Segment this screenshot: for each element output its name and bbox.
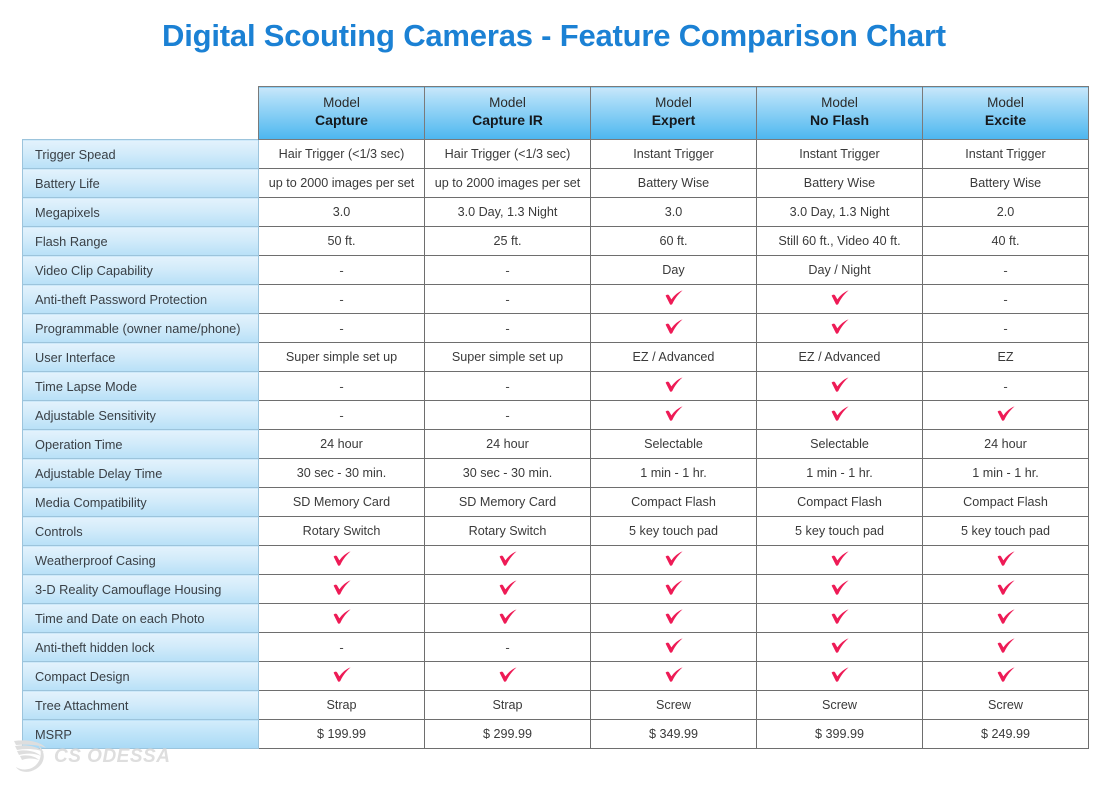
feature-value-cell: 1 min - 1 hr. xyxy=(923,459,1089,488)
feature-value-cell: up to 2000 images per set xyxy=(259,169,425,198)
dash-cell: - xyxy=(923,285,1089,314)
dash-mark: - xyxy=(1003,263,1007,278)
check-icon xyxy=(664,377,684,394)
feature-label: Tree Attachment xyxy=(23,691,259,720)
check-icon xyxy=(830,406,850,423)
feature-label: Adjustable Delay Time xyxy=(23,459,259,488)
check-icon xyxy=(498,580,518,597)
column-header-model-word: Model xyxy=(263,95,420,111)
feature-value-cell: EZ xyxy=(923,343,1089,372)
feature-label: Programmable (owner name/phone) xyxy=(23,314,259,343)
check-mark-cell xyxy=(757,662,923,691)
feature-value-cell: Screw xyxy=(757,691,923,720)
feature-label: Anti-theft hidden lock xyxy=(23,633,259,662)
feature-value-cell: Hair Trigger (<1/3 sec) xyxy=(425,140,591,169)
check-mark-cell xyxy=(259,604,425,633)
check-icon xyxy=(498,551,518,568)
feature-value-cell: Still 60 ft., Video 40 ft. xyxy=(757,227,923,256)
feature-label: Time Lapse Mode xyxy=(23,372,259,401)
dash-cell: - xyxy=(425,256,591,285)
table-row: Battery Lifeup to 2000 images per setup … xyxy=(23,169,1089,198)
check-mark-cell xyxy=(757,575,923,604)
table-row: Megapixels3.03.0 Day, 1.3 Night3.03.0 Da… xyxy=(23,198,1089,227)
check-icon xyxy=(664,551,684,568)
check-icon xyxy=(332,609,352,626)
check-mark-cell xyxy=(591,633,757,662)
check-icon xyxy=(830,551,850,568)
dash-mark: - xyxy=(1003,292,1007,307)
feature-label: Video Clip Capability xyxy=(23,256,259,285)
feature-value-cell: Instant Trigger xyxy=(591,140,757,169)
table-corner-cell xyxy=(23,87,259,140)
feature-value-cell: $ 199.99 xyxy=(259,720,425,749)
feature-value-cell: 5 key touch pad xyxy=(591,517,757,546)
feature-label: 3-D Reality Camouflage Housing xyxy=(23,575,259,604)
feature-label: Megapixels xyxy=(23,198,259,227)
feature-value-cell: Super simple set up xyxy=(259,343,425,372)
feature-value-cell: Screw xyxy=(591,691,757,720)
feature-label: Media Compatibility xyxy=(23,488,259,517)
feature-value-cell: Hair Trigger (<1/3 sec) xyxy=(259,140,425,169)
feature-value-cell: Screw xyxy=(923,691,1089,720)
dash-cell: - xyxy=(923,372,1089,401)
feature-value-cell: EZ / Advanced xyxy=(757,343,923,372)
dash-mark: - xyxy=(1003,321,1007,336)
feature-value-cell: Battery Wise xyxy=(757,169,923,198)
check-mark-cell xyxy=(923,662,1089,691)
dash-cell: - xyxy=(425,314,591,343)
table-row: Video Clip Capability--DayDay / Night- xyxy=(23,256,1089,285)
table-row: Compact Design xyxy=(23,662,1089,691)
check-icon xyxy=(830,290,850,307)
feature-value-cell: 30 sec - 30 min. xyxy=(425,459,591,488)
table-row: Adjustable Sensitivity-- xyxy=(23,401,1089,430)
feature-value-cell: Compact Flash xyxy=(757,488,923,517)
dash-mark: - xyxy=(339,292,343,307)
feature-value-cell: SD Memory Card xyxy=(259,488,425,517)
check-mark-cell xyxy=(923,575,1089,604)
check-icon xyxy=(830,667,850,684)
check-mark-cell xyxy=(591,285,757,314)
feature-value-cell: 50 ft. xyxy=(259,227,425,256)
table-row: Flash Range50 ft.25 ft.60 ft.Still 60 ft… xyxy=(23,227,1089,256)
feature-value-cell: Battery Wise xyxy=(923,169,1089,198)
column-header-model-name: Capture xyxy=(263,112,420,129)
feature-value-cell: Day / Night xyxy=(757,256,923,285)
feature-value-cell: Instant Trigger xyxy=(923,140,1089,169)
table-header: ModelCaptureModelCapture IRModelExpertMo… xyxy=(23,87,1089,140)
check-mark-cell xyxy=(591,546,757,575)
check-icon xyxy=(664,580,684,597)
column-header-capture: ModelCapture xyxy=(259,87,425,140)
check-mark-cell xyxy=(923,604,1089,633)
feature-label: Adjustable Sensitivity xyxy=(23,401,259,430)
check-icon xyxy=(830,580,850,597)
feature-value-cell: Rotary Switch xyxy=(425,517,591,546)
feature-label: Trigger Spead xyxy=(23,140,259,169)
column-header-no-flash: ModelNo Flash xyxy=(757,87,923,140)
dash-mark: - xyxy=(339,379,343,394)
feature-value-cell: Strap xyxy=(425,691,591,720)
column-header-model-name: Excite xyxy=(927,112,1084,129)
table-row: Anti-theft Password Protection--- xyxy=(23,285,1089,314)
check-icon xyxy=(830,319,850,336)
feature-value-cell: 3.0 xyxy=(591,198,757,227)
table-row: Weatherproof Casing xyxy=(23,546,1089,575)
dash-mark: - xyxy=(505,408,509,423)
feature-label: Controls xyxy=(23,517,259,546)
dash-mark: - xyxy=(505,263,509,278)
feature-label: Anti-theft Password Protection xyxy=(23,285,259,314)
check-mark-cell xyxy=(425,662,591,691)
check-icon xyxy=(830,609,850,626)
feature-label: Battery Life xyxy=(23,169,259,198)
table-row: Adjustable Delay Time30 sec - 30 min.30 … xyxy=(23,459,1089,488)
column-header-excite: ModelExcite xyxy=(923,87,1089,140)
check-icon xyxy=(830,638,850,655)
feature-value-cell: $ 299.99 xyxy=(425,720,591,749)
check-mark-cell xyxy=(425,546,591,575)
feature-label: Operation Time xyxy=(23,430,259,459)
check-mark-cell xyxy=(259,575,425,604)
column-header-model-word: Model xyxy=(761,95,918,111)
table-row: Operation Time24 hour24 hourSelectableSe… xyxy=(23,430,1089,459)
table-row: Time Lapse Mode--- xyxy=(23,372,1089,401)
table-body: Trigger SpeadHair Trigger (<1/3 sec)Hair… xyxy=(23,140,1089,749)
check-mark-cell xyxy=(757,314,923,343)
check-icon xyxy=(498,609,518,626)
check-mark-cell xyxy=(259,546,425,575)
dash-cell: - xyxy=(259,256,425,285)
dash-cell: - xyxy=(259,633,425,662)
check-mark-cell xyxy=(591,604,757,633)
dash-mark: - xyxy=(505,321,509,336)
check-mark-cell xyxy=(591,314,757,343)
feature-value-cell: 24 hour xyxy=(923,430,1089,459)
check-mark-cell xyxy=(591,372,757,401)
column-header-expert: ModelExpert xyxy=(591,87,757,140)
swirl-logo-icon xyxy=(8,733,52,782)
table-row: 3-D Reality Camouflage Housing xyxy=(23,575,1089,604)
check-mark-cell xyxy=(757,401,923,430)
column-header-model-name: Expert xyxy=(595,112,752,129)
dash-cell: - xyxy=(425,285,591,314)
check-icon xyxy=(830,377,850,394)
feature-comparison-table: ModelCaptureModelCapture IRModelExpertMo… xyxy=(22,86,1089,749)
column-header-model-name: Capture IR xyxy=(429,112,586,129)
feature-value-cell: 3.0 Day, 1.3 Night xyxy=(425,198,591,227)
feature-label: Time and Date on each Photo xyxy=(23,604,259,633)
brand-name: CS ODESSA xyxy=(54,746,170,768)
dash-cell: - xyxy=(425,401,591,430)
check-icon xyxy=(996,406,1016,423)
feature-label: Compact Design xyxy=(23,662,259,691)
feature-value-cell: Rotary Switch xyxy=(259,517,425,546)
dash-mark: - xyxy=(505,379,509,394)
feature-value-cell: Super simple set up xyxy=(425,343,591,372)
dash-mark: - xyxy=(339,263,343,278)
check-mark-cell xyxy=(923,546,1089,575)
check-mark-cell xyxy=(757,546,923,575)
check-mark-cell xyxy=(259,662,425,691)
dash-cell: - xyxy=(923,314,1089,343)
check-mark-cell xyxy=(757,372,923,401)
column-header-model-word: Model xyxy=(595,95,752,111)
dash-mark: - xyxy=(339,408,343,423)
table-row: Time and Date on each Photo xyxy=(23,604,1089,633)
check-mark-cell xyxy=(923,401,1089,430)
feature-value-cell: Compact Flash xyxy=(923,488,1089,517)
feature-label: Weatherproof Casing xyxy=(23,546,259,575)
table-row: MSRP$ 199.99$ 299.99$ 349.99$ 399.99$ 24… xyxy=(23,720,1089,749)
feature-value-cell: $ 349.99 xyxy=(591,720,757,749)
dash-cell: - xyxy=(259,314,425,343)
check-icon xyxy=(664,667,684,684)
dash-cell: - xyxy=(259,372,425,401)
feature-value-cell: 2.0 xyxy=(923,198,1089,227)
check-mark-cell xyxy=(923,633,1089,662)
feature-value-cell: Compact Flash xyxy=(591,488,757,517)
check-icon xyxy=(664,609,684,626)
dash-cell: - xyxy=(259,285,425,314)
check-icon xyxy=(664,638,684,655)
feature-value-cell: Instant Trigger xyxy=(757,140,923,169)
dash-cell: - xyxy=(425,372,591,401)
table-row: Trigger SpeadHair Trigger (<1/3 sec)Hair… xyxy=(23,140,1089,169)
table-row: Programmable (owner name/phone)--- xyxy=(23,314,1089,343)
feature-value-cell: 25 ft. xyxy=(425,227,591,256)
feature-value-cell: EZ / Advanced xyxy=(591,343,757,372)
check-mark-cell xyxy=(591,401,757,430)
feature-value-cell: SD Memory Card xyxy=(425,488,591,517)
column-header-model-word: Model xyxy=(927,95,1084,111)
column-header-model-name: No Flash xyxy=(761,112,918,129)
table-row: Anti-theft hidden lock-- xyxy=(23,633,1089,662)
dash-cell: - xyxy=(259,401,425,430)
feature-value-cell: 60 ft. xyxy=(591,227,757,256)
feature-value-cell: Selectable xyxy=(591,430,757,459)
dash-cell: - xyxy=(923,256,1089,285)
table-row: Tree AttachmentStrapStrapScrewScrewScrew xyxy=(23,691,1089,720)
check-icon xyxy=(664,290,684,307)
check-mark-cell xyxy=(591,575,757,604)
check-icon xyxy=(996,667,1016,684)
feature-value-cell: $ 249.99 xyxy=(923,720,1089,749)
feature-value-cell: Battery Wise xyxy=(591,169,757,198)
table-row: User InterfaceSuper simple set upSuper s… xyxy=(23,343,1089,372)
check-icon xyxy=(332,667,352,684)
feature-value-cell: Day xyxy=(591,256,757,285)
check-mark-cell xyxy=(425,604,591,633)
dash-mark: - xyxy=(339,321,343,336)
dash-cell: - xyxy=(425,633,591,662)
feature-value-cell: 3.0 Day, 1.3 Night xyxy=(757,198,923,227)
dash-mark: - xyxy=(505,640,509,655)
feature-value-cell: 24 hour xyxy=(259,430,425,459)
dash-mark: - xyxy=(339,640,343,655)
feature-value-cell: 5 key touch pad xyxy=(757,517,923,546)
check-icon xyxy=(996,551,1016,568)
check-icon xyxy=(332,551,352,568)
check-mark-cell xyxy=(757,604,923,633)
footer-watermark: CS ODESSA xyxy=(8,732,170,782)
check-icon xyxy=(996,609,1016,626)
feature-value-cell: Selectable xyxy=(757,430,923,459)
check-icon xyxy=(996,580,1016,597)
feature-value-cell: 40 ft. xyxy=(923,227,1089,256)
table-row: ControlsRotary SwitchRotary Switch5 key … xyxy=(23,517,1089,546)
check-icon xyxy=(664,319,684,336)
table-row: Media CompatibilitySD Memory CardSD Memo… xyxy=(23,488,1089,517)
column-header-capture-ir: ModelCapture IR xyxy=(425,87,591,140)
feature-value-cell: up to 2000 images per set xyxy=(425,169,591,198)
column-header-model-word: Model xyxy=(429,95,586,111)
feature-value-cell: 1 min - 1 hr. xyxy=(757,459,923,488)
check-mark-cell xyxy=(425,575,591,604)
feature-value-cell: $ 399.99 xyxy=(757,720,923,749)
feature-value-cell: 3.0 xyxy=(259,198,425,227)
page-title: Digital Scouting Cameras - Feature Compa… xyxy=(0,18,1108,54)
feature-value-cell: 30 sec - 30 min. xyxy=(259,459,425,488)
check-icon xyxy=(664,406,684,423)
check-icon xyxy=(498,667,518,684)
dash-mark: - xyxy=(1003,379,1007,394)
check-mark-cell xyxy=(757,285,923,314)
feature-label: User Interface xyxy=(23,343,259,372)
feature-value-cell: 5 key touch pad xyxy=(923,517,1089,546)
header-row: ModelCaptureModelCapture IRModelExpertMo… xyxy=(23,87,1089,140)
check-mark-cell xyxy=(757,633,923,662)
check-mark-cell xyxy=(591,662,757,691)
feature-label: Flash Range xyxy=(23,227,259,256)
feature-value-cell: Strap xyxy=(259,691,425,720)
feature-value-cell: 24 hour xyxy=(425,430,591,459)
dash-mark: - xyxy=(505,292,509,307)
check-icon xyxy=(332,580,352,597)
feature-value-cell: 1 min - 1 hr. xyxy=(591,459,757,488)
check-icon xyxy=(996,638,1016,655)
